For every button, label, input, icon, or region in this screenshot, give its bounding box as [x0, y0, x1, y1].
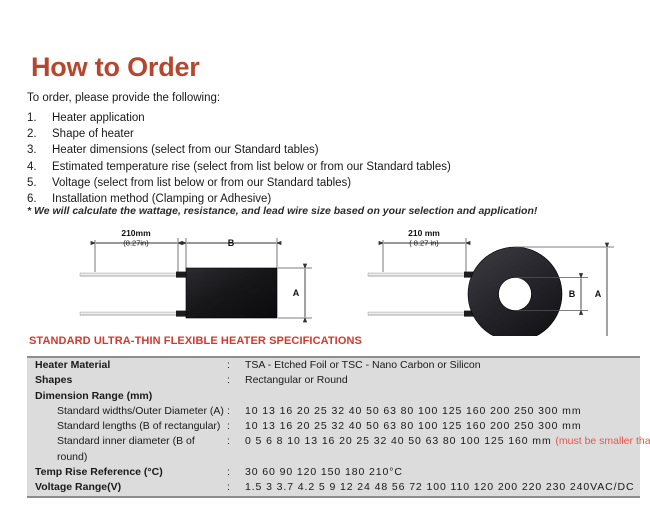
- row-value-text: TSA - Etched Foil or TSC - Nano Carbon o…: [245, 359, 481, 371]
- list-item: 3. Heater dimensions (select from our St…: [27, 142, 617, 158]
- list-item-number: 3.: [27, 142, 52, 158]
- row-value-text: 10 13 16 20 25 32 40 50 63 80 100 125 16…: [245, 405, 581, 417]
- list-item-number: 2.: [27, 126, 52, 142]
- row-value: Rectangular or Round: [245, 373, 640, 388]
- list-item: 4. Estimated temperature rise (select fr…: [27, 159, 617, 175]
- row-label: Voltage Range(V): [27, 480, 227, 495]
- row-label: Temp Rise Reference (°C): [27, 465, 227, 480]
- row-colon: :: [227, 419, 245, 434]
- calculation-note: * We will calculate the wattage, resista…: [27, 205, 537, 217]
- rectangular-heater-diagram: [80, 238, 312, 318]
- intro-text: To order, please provide the following:: [27, 92, 220, 104]
- row-value: 1.5 3 3.7 4.2 5 9 12 24 48 56 72 100 110…: [245, 480, 640, 495]
- row-value: 30 60 90 120 150 180 210°C: [245, 465, 640, 480]
- round-heater-diagram: [368, 238, 614, 336]
- list-item: 5. Voltage (select from list below or fr…: [27, 175, 617, 191]
- row-value-text: Rectangular or Round: [245, 374, 348, 386]
- rect-width-label: B: [228, 238, 235, 248]
- list-item-number: 5.: [27, 175, 52, 191]
- row-colon: :: [227, 434, 245, 449]
- table-row: Standard widths/Outer Diameter (A) : 10 …: [27, 404, 640, 419]
- row-value-text: 10 13 16 20 25 32 40 50 63 80 100 125 16…: [245, 420, 581, 432]
- page-title: How to Order: [31, 52, 200, 83]
- round-outer-diameter-label: A: [595, 289, 602, 299]
- table-row: Standard inner diameter (B of round) : 0…: [27, 434, 640, 465]
- row-warning-text: (must be smaller than A): [555, 435, 650, 447]
- row-colon: :: [227, 465, 245, 480]
- row-label: Dimension Range (mm): [27, 389, 227, 404]
- heater-diagrams: 210mm (8.27in) B A 210 mm ( 8.27 in) B A: [0, 228, 650, 336]
- list-item-label: Estimated temperature rise (select from …: [52, 159, 617, 175]
- list-item: 1. Heater application: [27, 110, 617, 126]
- list-item: 2. Shape of heater: [27, 126, 617, 142]
- list-item-label: Heater dimensions (select from our Stand…: [52, 142, 617, 158]
- row-colon: :: [227, 480, 245, 495]
- table-row: Standard lengths (B of rectangular) : 10…: [27, 419, 640, 434]
- spec-section-heading: STANDARD ULTRA-THIN FLEXIBLE HEATER SPEC…: [29, 335, 362, 347]
- table-row: Heater Material : TSA - Etched Foil or T…: [27, 358, 640, 373]
- row-value: TSA - Etched Foil or TSC - Nano Carbon o…: [245, 358, 640, 373]
- row-value: 0 5 6 8 10 13 16 20 25 32 40 50 63 80 10…: [245, 434, 650, 449]
- rect-lead-length-in: (8.27in): [123, 239, 149, 248]
- list-item-number: 4.: [27, 159, 52, 175]
- row-value-text: 30 60 90 120 150 180 210°C: [245, 466, 403, 478]
- row-value-text: 1.5 3 3.7 4.2 5 9 12 24 48 56 72 100 110…: [245, 481, 634, 493]
- table-row: Shapes : Rectangular or Round: [27, 373, 640, 388]
- row-value-text: 0 5 6 8 10 13 16 20 25 32 40 50 63 80 10…: [245, 435, 555, 447]
- spec-table: Heater Material : TSA - Etched Foil or T…: [27, 356, 640, 498]
- row-colon: :: [227, 404, 245, 419]
- rect-height-label: A: [293, 288, 300, 298]
- table-row: Temp Rise Reference (°C) : 30 60 90 120 …: [27, 465, 640, 480]
- row-label: Shapes: [27, 373, 227, 388]
- row-label: Standard widths/Outer Diameter (A): [27, 404, 227, 419]
- row-value: 10 13 16 20 25 32 40 50 63 80 100 125 16…: [245, 419, 640, 434]
- list-item-label: Heater application: [52, 110, 617, 126]
- table-row: Voltage Range(V) : 1.5 3 3.7 4.2 5 9 12 …: [27, 480, 640, 495]
- round-inner-diameter-label: B: [569, 289, 576, 299]
- round-lead-length-in: ( 8.27 in): [409, 239, 439, 248]
- row-label: Standard lengths (B of rectangular): [27, 419, 227, 434]
- round-lead-length-mm: 210 mm: [408, 228, 440, 238]
- table-row: Dimension Range (mm) :: [27, 389, 640, 404]
- row-colon: :: [227, 373, 245, 388]
- row-colon: :: [227, 358, 245, 373]
- order-steps-list: 1. Heater application 2. Shape of heater…: [27, 110, 617, 207]
- row-label: Standard inner diameter (B of round): [27, 434, 227, 465]
- row-value: 10 13 16 20 25 32 40 50 63 80 100 125 16…: [245, 404, 640, 419]
- list-item-number: 1.: [27, 110, 52, 126]
- list-item-label: Shape of heater: [52, 126, 617, 142]
- row-label: Heater Material: [27, 358, 227, 373]
- rect-lead-length-mm: 210mm: [121, 228, 151, 238]
- list-item-label: Voltage (select from list below or from …: [52, 175, 617, 191]
